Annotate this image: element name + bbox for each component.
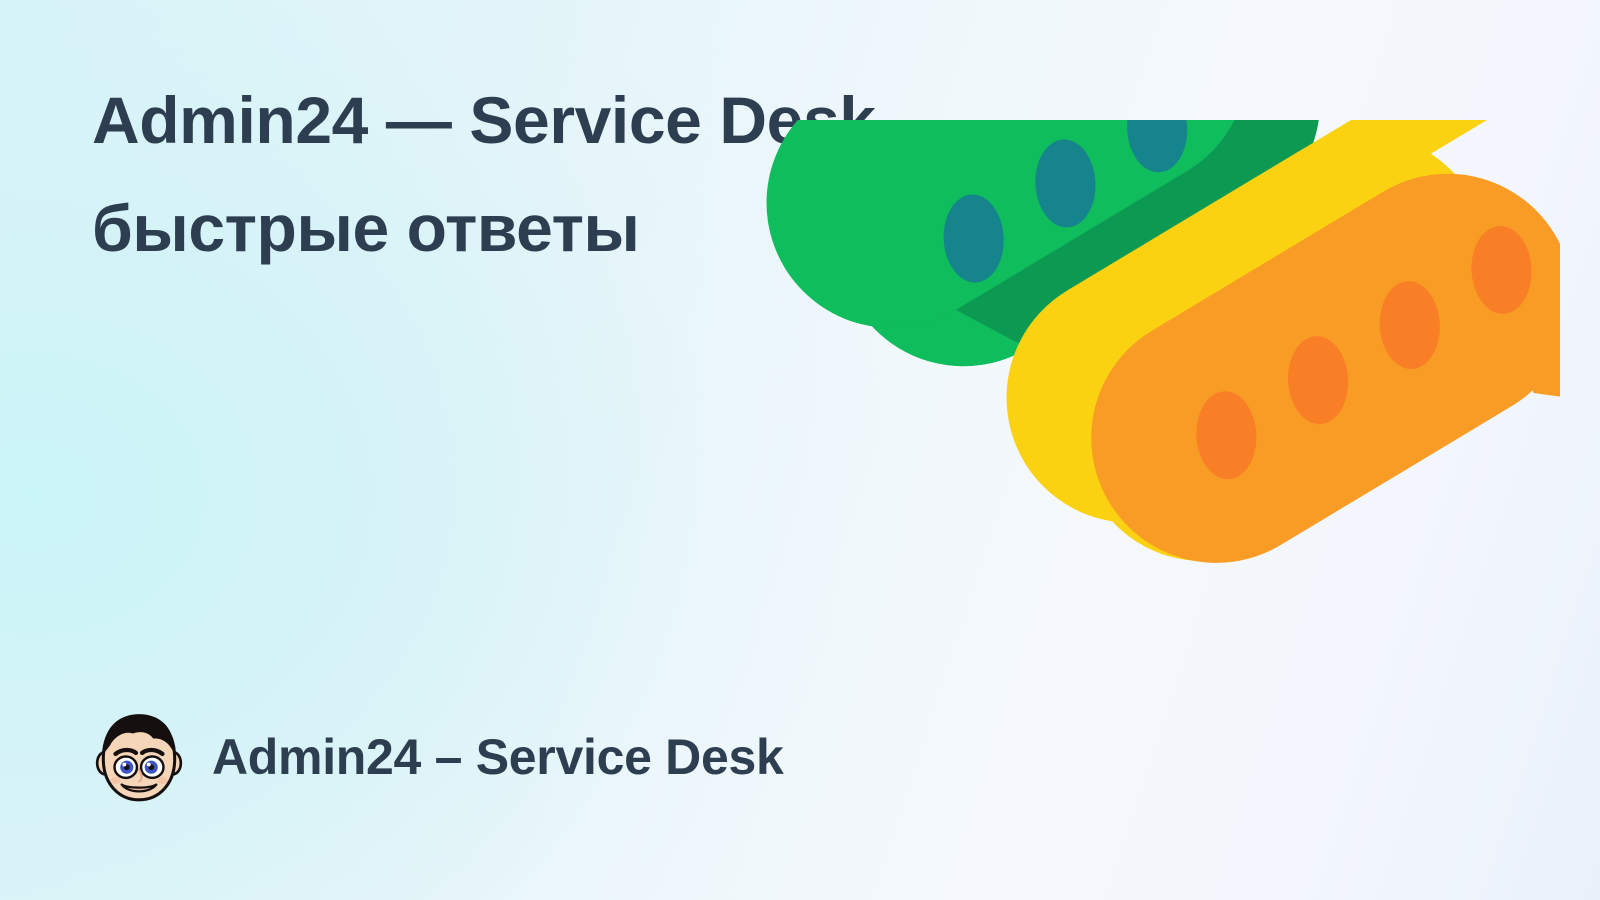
promo-banner: Admin24 — Service Desk быстрые ответы [0, 0, 1600, 900]
male-cartoon-face-avatar-icon [88, 706, 190, 808]
two-isometric-chat-bubbles-illustration [660, 120, 1560, 820]
brand-name: Admin24 – Service Desk [212, 728, 784, 786]
brand-footer: Admin24 – Service Desk [88, 706, 784, 808]
